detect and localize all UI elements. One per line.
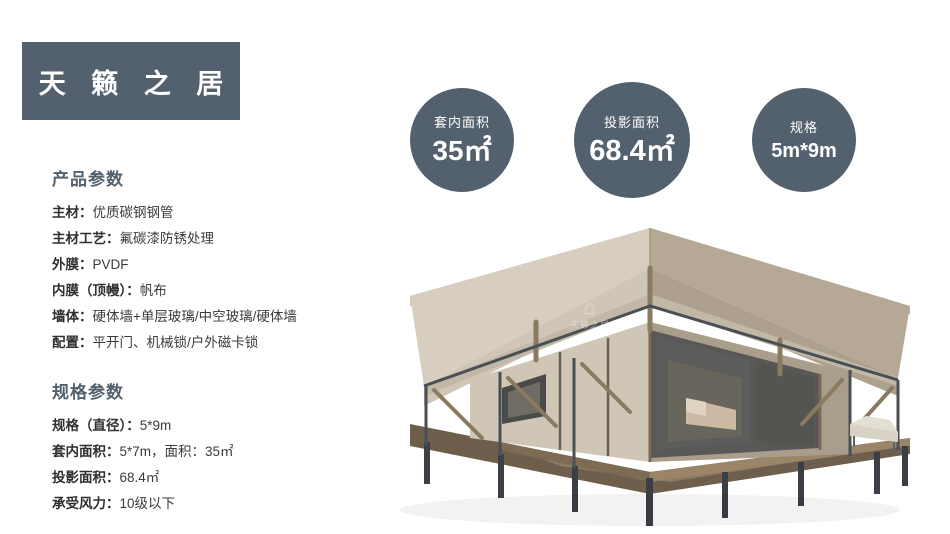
badge-value: 5m*9m [771,141,837,162]
section-heading-specification: 规格参数 [52,378,372,403]
spec-value: 10级以下 [120,496,176,511]
badge-interior-area: 套内面积 35㎡ [410,88,514,192]
spec-row: 承受风力：10级以下 [52,491,372,517]
badge-projected-area: 投影面积 68.4㎡ [574,82,690,198]
badge-dimensions: 规格 5m*9m [752,88,856,192]
section-heading-product: 产品参数 [52,165,372,190]
spec-label: 主材工艺： [52,231,120,246]
spec-label: 规格（直径）： [52,418,140,433]
spec-value: 氟碳漆防锈处理 [120,231,215,246]
spec-row: 配置：平开门、机械锁/户外磁卡锁 [52,330,372,356]
tent-house-illustration: ⌂ 天籁之居 [350,210,950,534]
spec-row: 投影面积：68.4㎡ [52,465,372,491]
spec-label: 投影面积： [52,470,120,485]
badge-caption: 投影面积 [604,114,660,132]
badge-caption: 套内面积 [434,114,490,132]
spec-label: 承受风力： [52,496,120,511]
spec-label: 墙体： [52,309,93,324]
spec-value: 68.4㎡ [120,470,160,485]
badge-value: 68.4㎡ [589,136,674,166]
spec-row: 套内面积：5*7m，面积：35㎡ [52,439,372,465]
spec-row: 外膜：PVDF [52,252,372,278]
spec-row: 规格（直径）：5*9m [52,413,372,439]
spec-value: 5*7m，面积：35㎡ [120,444,234,459]
spec-row: 墙体：硬体墙+单层玻璃/中空玻璃/硬体墙 [52,304,372,330]
spec-label: 内膜（顶幔）： [52,283,140,298]
page-title: 天 籁 之 居 [30,62,233,101]
spec-value: 硬体墙+单层玻璃/中空玻璃/硬体墙 [93,309,297,324]
spec-label: 套内面积： [52,444,120,459]
spec-row: 主材：优质碳钢钢管 [52,200,372,226]
spec-value: 帆布 [140,283,167,298]
spec-label: 配置： [52,335,93,350]
spec-value: 平开门、机械锁/户外磁卡锁 [93,335,259,350]
spec-label: 外膜： [52,257,93,272]
spec-row: 内膜（顶幔）：帆布 [52,278,372,304]
tent-house-3d-render [350,210,950,534]
badge-caption: 规格 [790,119,818,137]
spec-column: 产品参数 主材：优质碳钢钢管 主材工艺：氟碳漆防锈处理 外膜：PVDF 内膜（顶… [52,165,372,517]
spec-value: PVDF [93,257,129,272]
spec-label: 主材： [52,205,93,220]
spec-value: 优质碳钢钢管 [93,205,174,220]
title-block: 天 籁 之 居 [22,42,240,120]
spec-row: 主材工艺：氟碳漆防锈处理 [52,226,372,252]
spec-value: 5*9m [140,418,172,433]
badge-value: 35㎡ [432,136,491,165]
